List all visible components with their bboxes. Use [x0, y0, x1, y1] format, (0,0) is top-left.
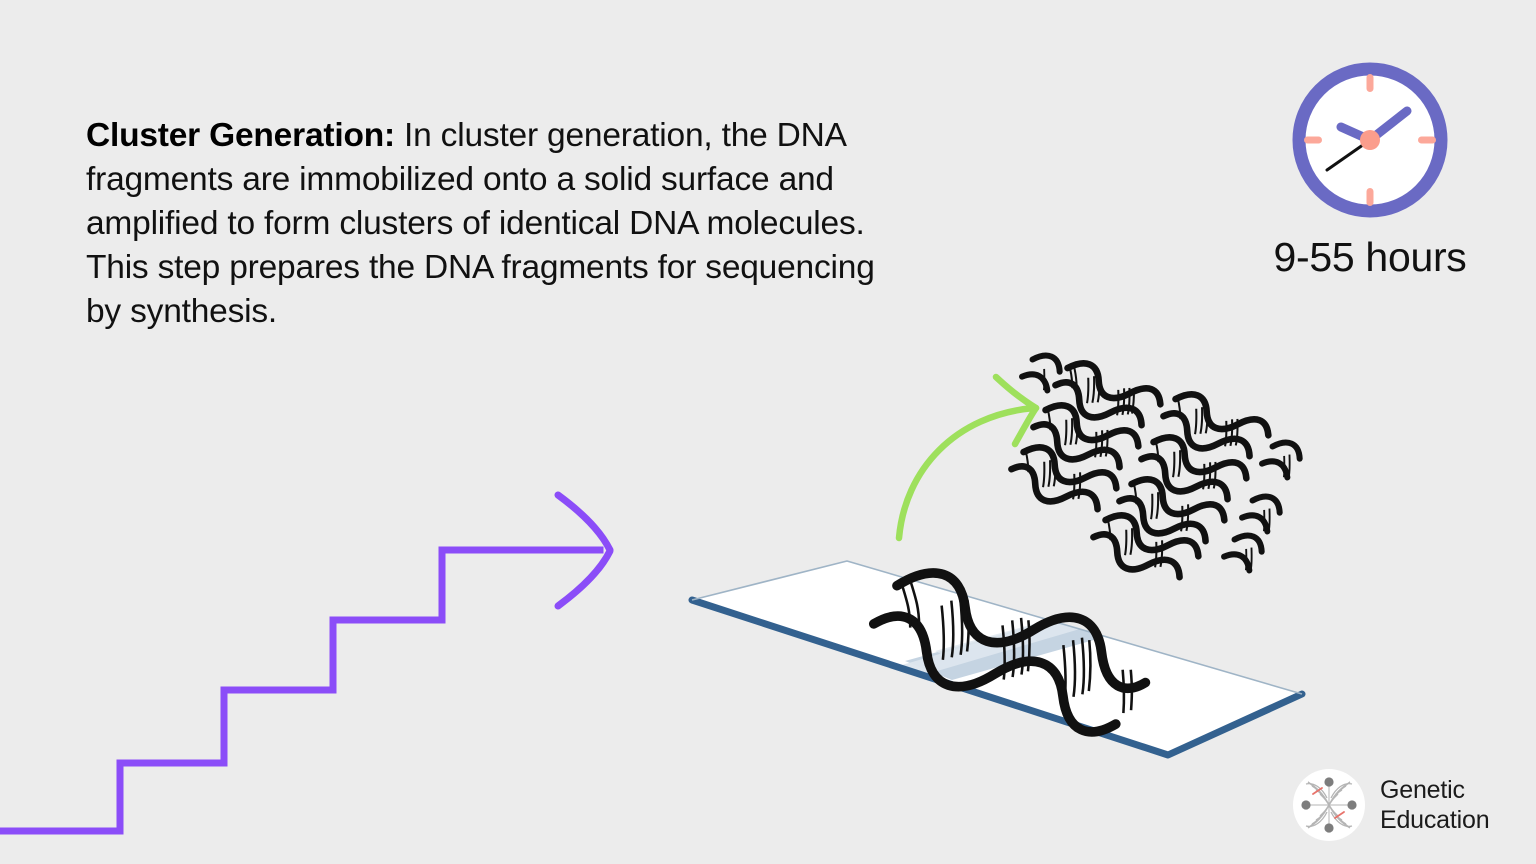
slide-surface [692, 561, 1302, 755]
clock-hub [1360, 130, 1380, 150]
clock-tick-9 [1304, 137, 1322, 144]
logo-node-left [1301, 800, 1310, 809]
step-title: Cluster Generation: [86, 117, 395, 154]
logo-node-top [1324, 777, 1333, 786]
slide-lane-bands [878, 601, 1147, 682]
logo-node-right [1347, 800, 1356, 809]
brand-name-line1: Genetic [1380, 775, 1489, 805]
brand-logo[interactable]: Genetic Education [1292, 768, 1489, 842]
duration-block: 9-55 hours [1245, 55, 1495, 281]
infographic-canvas: Cluster Generation: In cluster generatio… [0, 0, 1536, 864]
flow-cell-slide [692, 561, 1302, 755]
duration-label: 9-55 hours [1245, 233, 1495, 281]
step-description: Cluster Generation: In cluster generatio… [86, 114, 876, 334]
dna-cluster-grid [1005, 349, 1303, 591]
clock-tick-12 [1367, 74, 1374, 92]
curved-arrow-up-right [899, 377, 1036, 538]
clock-tick-6 [1367, 188, 1374, 206]
brand-name-line2: Education [1380, 805, 1489, 835]
slide-edge-front [692, 600, 1302, 755]
dna-helix-on-slide [862, 559, 1157, 744]
slide-edge-back [692, 561, 1302, 694]
genetic-education-logo-icon [1292, 768, 1366, 842]
logo-node-bottom [1324, 823, 1333, 832]
brand-name: Genetic Education [1380, 775, 1489, 835]
clock-tick-3 [1418, 137, 1436, 144]
clock-icon [1285, 55, 1455, 225]
stair-step-arrow [0, 495, 610, 831]
